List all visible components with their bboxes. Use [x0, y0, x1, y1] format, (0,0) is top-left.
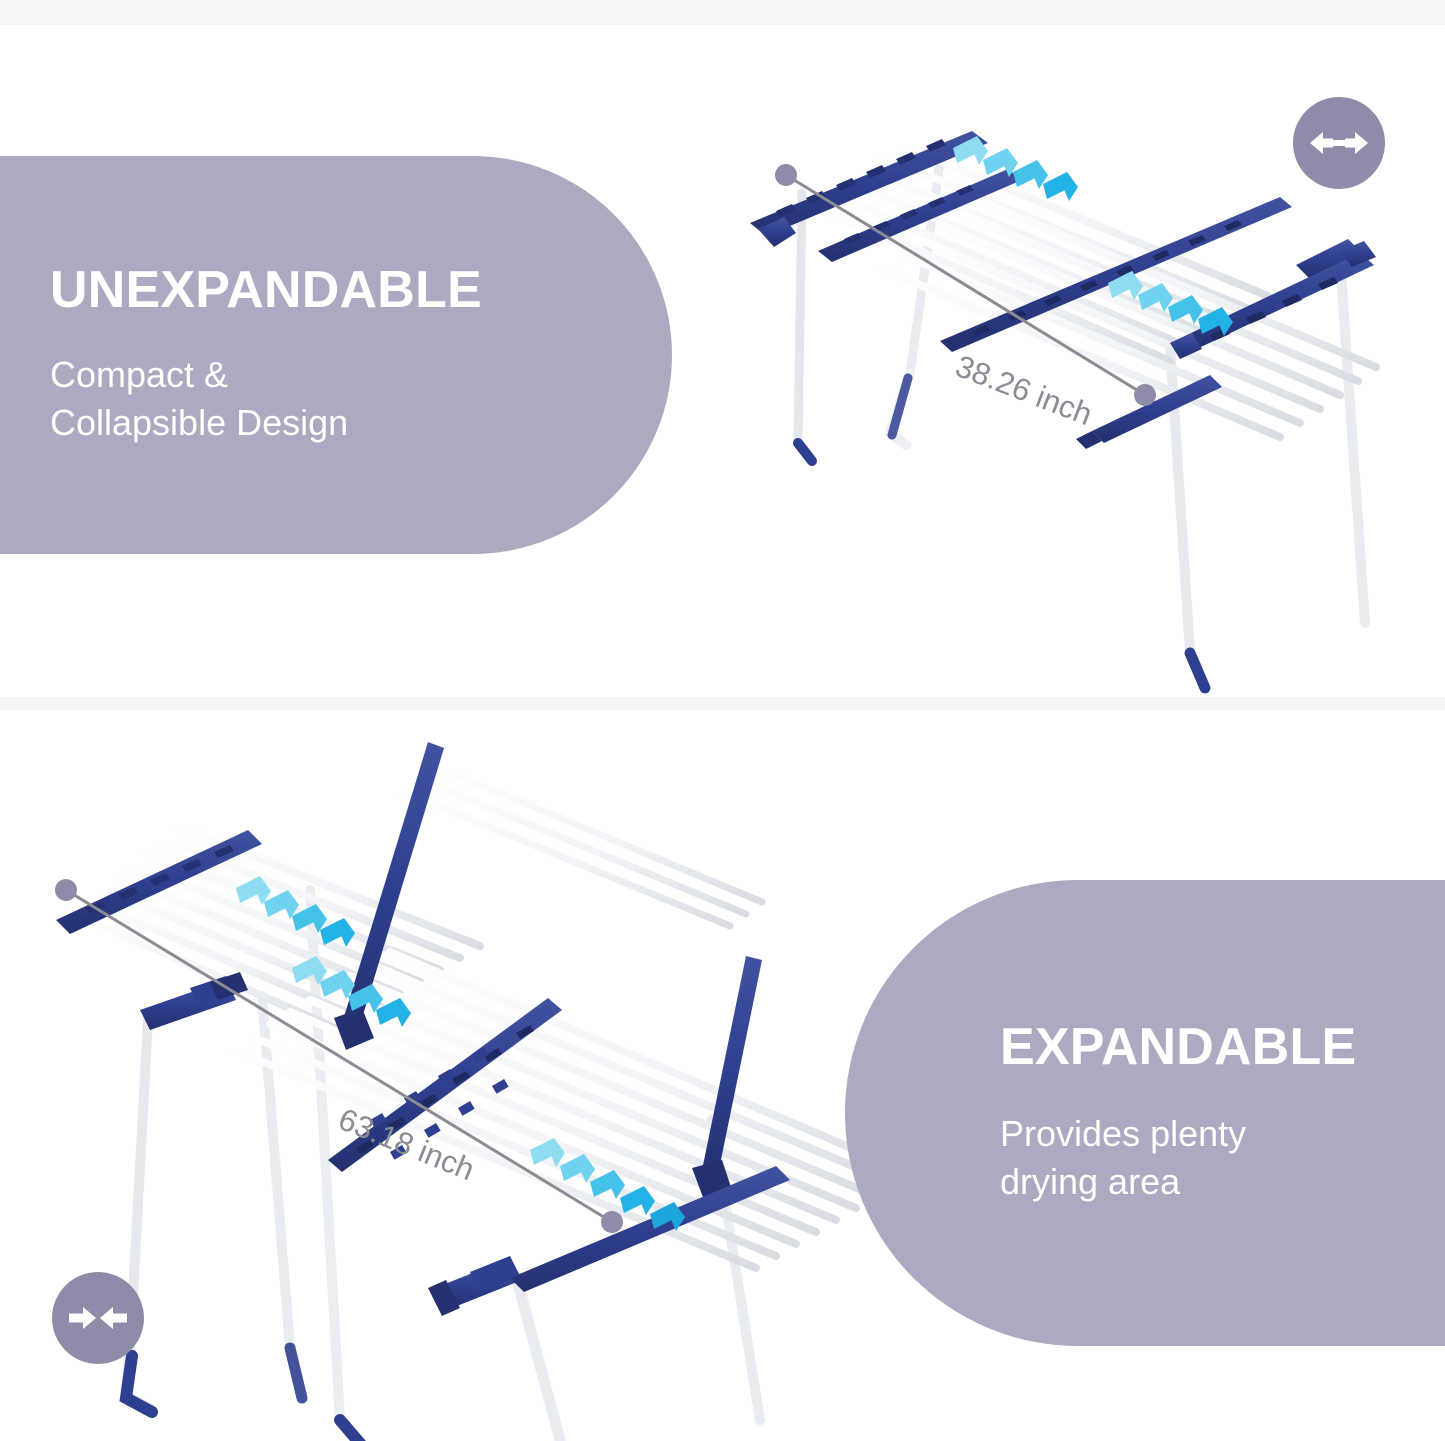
section-expandable: 63.18 inch EXPANDABLE Provides plenty dr… — [0, 710, 1445, 1441]
top-divider-band — [0, 0, 1445, 25]
callout-title-expandable: EXPANDABLE — [1000, 1020, 1445, 1075]
callout-subtitle-expandable: Provides plenty drying area — [1000, 1110, 1445, 1206]
arrows-inward-icon — [67, 1303, 129, 1333]
callout-unexpandable: UNEXPANDABLE Compact & Collapsible Desig… — [0, 156, 672, 554]
callout-title-unexpandable: UNEXPANDABLE — [50, 263, 552, 318]
rack-rods-upper-panel — [400, 766, 762, 926]
badge-expand[interactable] — [1293, 97, 1385, 189]
badge-collapse[interactable] — [52, 1272, 144, 1364]
section-unexpandable: UNEXPANDABLE Compact & Collapsible Desig… — [0, 25, 1445, 697]
rack-hinge-bottom — [428, 1256, 522, 1316]
callout-subtitle-line1-expandable: Provides plenty — [1000, 1113, 1246, 1154]
callout-subtitle-unexpandable: Compact & Collapsible Design — [50, 351, 552, 447]
mid-divider-band — [0, 697, 1445, 710]
callout-subtitle-line1: Compact & — [50, 354, 228, 395]
rack-hinge-left — [140, 972, 248, 1030]
arrows-outward-icon — [1308, 128, 1370, 158]
product-image-expanded-rack — [40, 720, 900, 1440]
infographic-page: UNEXPANDABLE Compact & Collapsible Desig… — [0, 0, 1445, 1441]
callout-subtitle-line2: Collapsible Design — [50, 402, 348, 443]
callout-subtitle-line2-expandable: drying area — [1000, 1161, 1180, 1202]
callout-expandable: EXPANDABLE Provides plenty drying area — [845, 880, 1445, 1346]
product-image-collapsed-rack — [740, 43, 1380, 703]
